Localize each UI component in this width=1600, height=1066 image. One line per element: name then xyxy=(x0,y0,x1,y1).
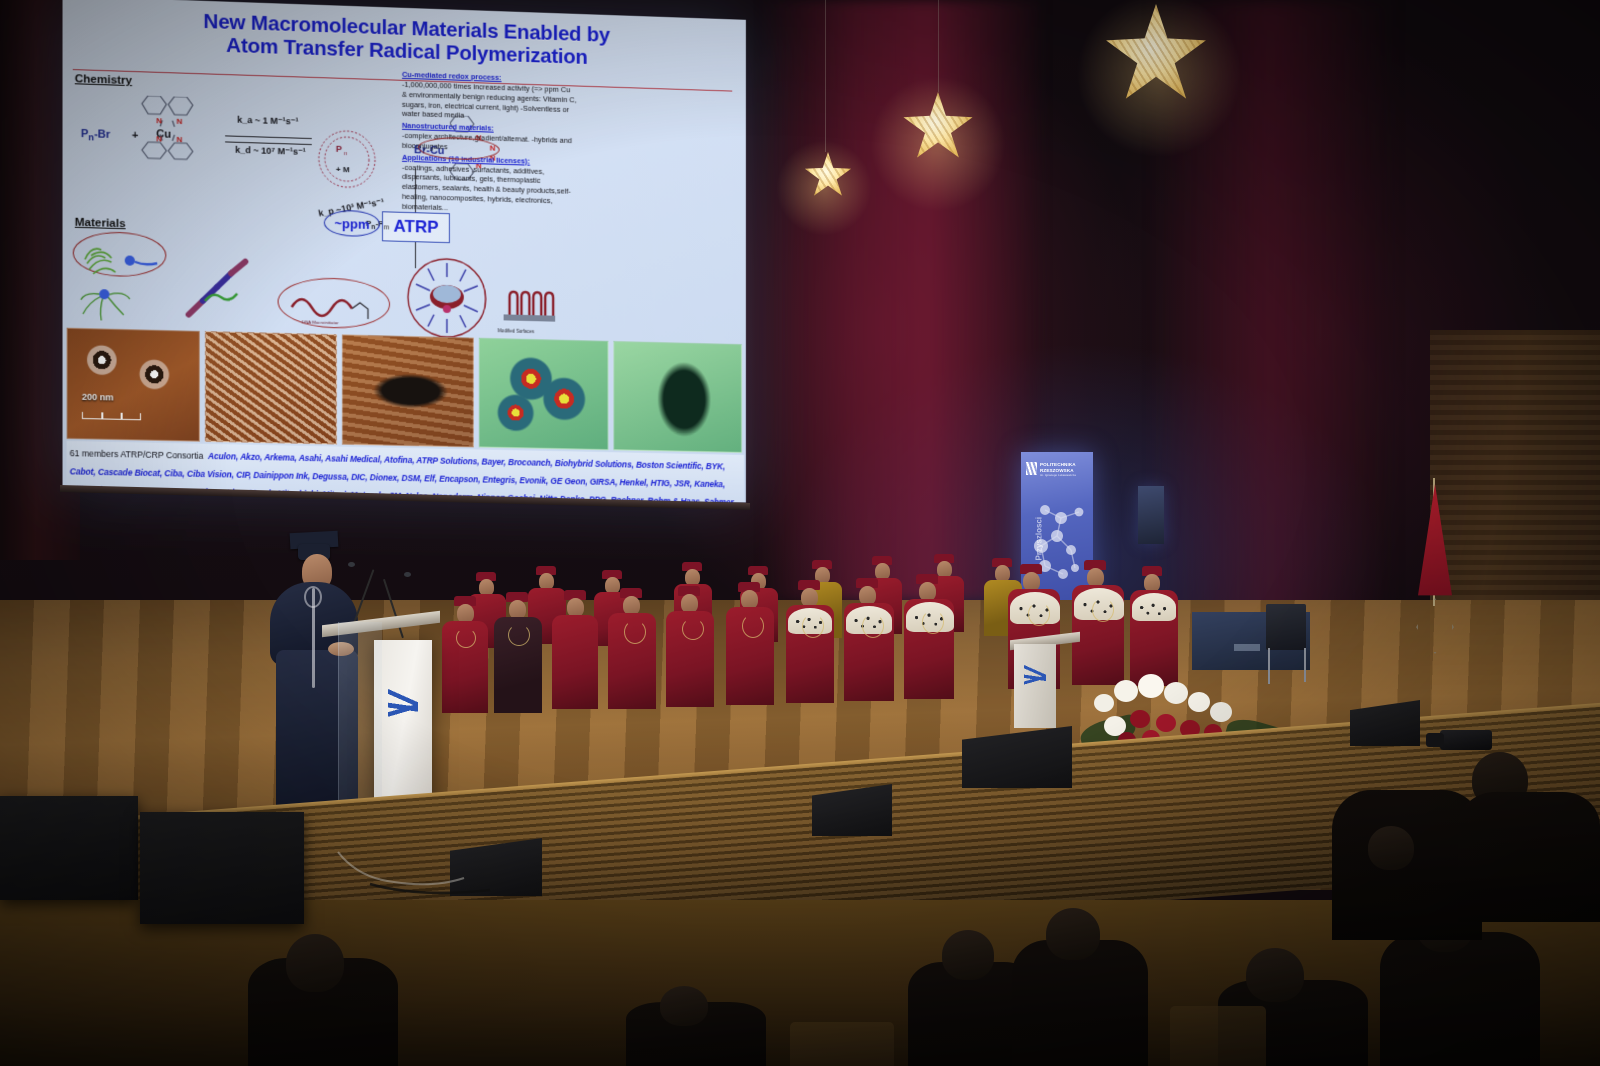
red-blossom xyxy=(1130,710,1150,728)
star-lantern-large xyxy=(1092,0,1222,120)
stage-chair xyxy=(1266,604,1306,650)
lantern-cord xyxy=(825,0,826,152)
white-blossom xyxy=(1114,680,1138,702)
chair-leg xyxy=(1268,648,1270,684)
micrograph-afm-particles: 200 nm xyxy=(67,328,200,442)
red-blossom xyxy=(1156,714,1176,732)
svg-text:N: N xyxy=(177,135,183,144)
scalebar-label: 200 nm xyxy=(82,392,114,403)
rate-constant-deactivation: k_d ~ 10⁷ M⁻¹s⁻¹ xyxy=(235,145,306,158)
pa-speaker-hanging xyxy=(1138,486,1164,544)
text-body-redox: -1,000,000,000 times increased activity … xyxy=(402,80,577,125)
audience-person-head xyxy=(1046,908,1100,960)
white-blossom xyxy=(1188,692,1210,712)
section-label-materials: Materials xyxy=(75,217,126,231)
svg-text:n: n xyxy=(344,151,347,157)
white-blossom xyxy=(1138,674,1164,698)
consortia-lead-text: 61 members ATRP/CRP Consortia xyxy=(70,448,204,461)
second-lectern xyxy=(1014,644,1056,728)
audience-person-head xyxy=(942,930,994,980)
ceremonial-flag xyxy=(1412,478,1458,688)
lectern-logo-icon xyxy=(388,678,418,734)
section-label-chemistry: Chemistry xyxy=(75,73,132,87)
svg-text:N: N xyxy=(177,117,183,126)
micrograph-fibrils xyxy=(205,331,337,444)
microphone-head-left xyxy=(348,562,355,567)
svg-text:N: N xyxy=(156,134,162,143)
university-logo-icon xyxy=(1026,462,1037,475)
flag-cloth xyxy=(1418,484,1452,600)
micrograph-sem-structure xyxy=(342,334,473,447)
polymer-brush-illustration xyxy=(77,233,167,328)
white-blossom xyxy=(1094,694,1114,712)
block-copolymer-illustration xyxy=(181,252,278,327)
audience-person-head xyxy=(286,934,344,992)
slide-title: New Macromolecular Materials Enabled by … xyxy=(85,7,724,74)
slide-surface: New Macromolecular Materials Enabled by … xyxy=(63,0,746,502)
audience-person-head xyxy=(1246,948,1304,1002)
audience-person-body xyxy=(1458,792,1600,922)
university-name-sub: im. Ignacego Lukasiewicza xyxy=(1040,474,1093,478)
audience-person-body xyxy=(1380,932,1540,1066)
modified-surface-illustration xyxy=(502,284,558,325)
white-blossom xyxy=(1164,682,1188,704)
svg-text:+ M: + M xyxy=(336,165,350,174)
stage-cables xyxy=(330,846,570,906)
text-body-applications: -coatings, adhesives ,surfactants, addit… xyxy=(402,162,577,216)
projection-screen[interactable]: New Macromolecular Materials Enabled by … xyxy=(63,0,746,502)
stage-monitor-speaker xyxy=(140,812,304,924)
auditorium-seat xyxy=(1170,1006,1266,1066)
scalebar xyxy=(82,412,141,420)
table-logo-plate xyxy=(1234,644,1260,651)
microphone-head-right xyxy=(404,572,411,577)
dna-caption: DNA Macroinitiator xyxy=(302,319,339,325)
audience-person-head xyxy=(1368,826,1414,870)
auditorium-seat xyxy=(790,1022,894,1066)
modified-surfaces-caption: Modified Surfaces xyxy=(498,328,534,334)
propagation-cycle-icon: P n + M xyxy=(312,123,382,195)
svg-text:N: N xyxy=(156,116,162,125)
lectern-glass-panel xyxy=(338,622,382,818)
white-blossom xyxy=(1210,702,1232,722)
reactant-polymer-label: Pn-Br xyxy=(81,128,110,143)
rate-constant-activation: k_a ~ 1 M⁻¹s⁻¹ xyxy=(237,115,298,128)
conference-hall-photograph: New Macromolecular Materials Enabled by … xyxy=(0,0,1600,1066)
flag-stand xyxy=(1416,598,1454,654)
arrow-forward xyxy=(225,135,312,139)
micrograph-green-network xyxy=(613,341,742,453)
ppm-annotation: ~ppm xyxy=(324,210,380,238)
ligand-structure-left: N N N N xyxy=(140,95,211,184)
chair-leg xyxy=(1304,648,1306,682)
banner-vertical-text: Przyszlosci xyxy=(1035,501,1044,561)
second-lectern-logo-icon xyxy=(1024,658,1046,696)
micrograph-strip: 200 nm xyxy=(67,328,742,453)
university-name: POLITECHNIKA RZESZOWSKA im. Ignacego Luk… xyxy=(1040,462,1093,478)
gown-cord-loop xyxy=(304,586,322,608)
star-lantern-medium xyxy=(888,0,988,190)
stage-monitor-speaker xyxy=(0,796,138,900)
star-lantern-small xyxy=(790,0,860,210)
camera-lens xyxy=(1426,733,1444,747)
plus-sign-1: + xyxy=(132,129,139,141)
audience-person-head xyxy=(660,986,708,1026)
star-polymer-micelle-illustration xyxy=(406,256,488,340)
svg-text:P: P xyxy=(336,144,342,154)
atrp-label-box: ATRP xyxy=(382,211,450,243)
video-camera xyxy=(1440,730,1492,750)
micrograph-fluorescence-cells xyxy=(478,338,608,450)
